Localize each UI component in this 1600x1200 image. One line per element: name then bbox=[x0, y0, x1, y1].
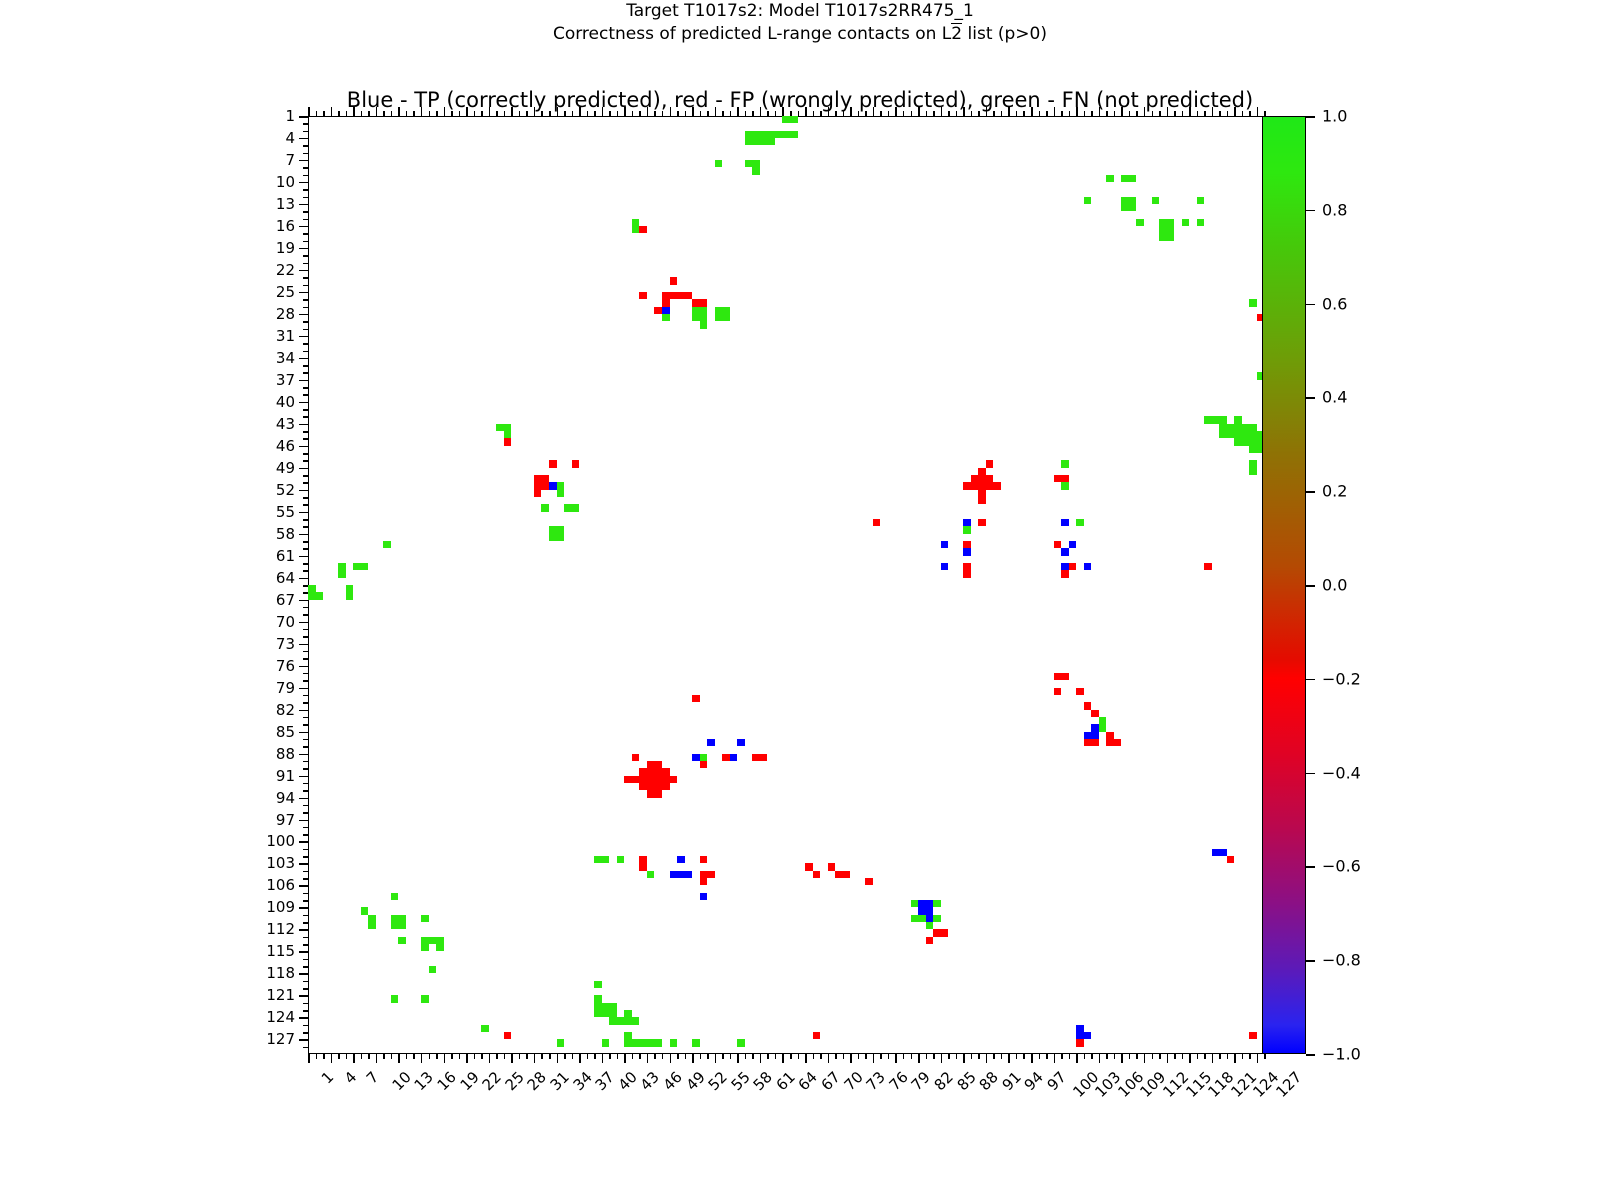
x-axis-tick bbox=[790, 1054, 792, 1059]
x-axis-tick bbox=[1084, 1054, 1086, 1059]
x-axis-tick-top bbox=[775, 111, 777, 116]
x-axis-tick bbox=[654, 1054, 656, 1059]
colorbar-tick-label: −0.2 bbox=[1322, 669, 1361, 688]
contact-cell-fp bbox=[692, 695, 700, 702]
x-axis-tick-top bbox=[572, 111, 574, 116]
x-axis-tick bbox=[948, 1054, 950, 1059]
x-axis-tick-top bbox=[594, 111, 596, 116]
x-axis-tick-top bbox=[587, 111, 589, 116]
y-axis-tick bbox=[303, 153, 308, 155]
contact-cell-fn bbox=[308, 585, 316, 592]
x-axis-tick bbox=[353, 1054, 355, 1063]
contact-cell-fp bbox=[662, 292, 677, 299]
contact-cell-fn bbox=[549, 526, 564, 541]
x-axis-tick-top bbox=[1144, 107, 1146, 116]
contact-cell-fn bbox=[692, 1039, 700, 1046]
contact-cell-fn bbox=[1249, 299, 1257, 306]
contact-cell-fn bbox=[670, 1039, 678, 1046]
x-axis-tick bbox=[903, 1054, 905, 1059]
contact-cell-fn bbox=[624, 1010, 632, 1017]
contact-cell-fn bbox=[700, 754, 708, 761]
contact-cell-fp bbox=[647, 761, 662, 768]
colorbar-tick bbox=[1306, 397, 1315, 399]
y-axis-tick bbox=[303, 790, 308, 792]
x-axis-tick-top bbox=[338, 111, 340, 116]
x-axis-tick bbox=[1264, 1054, 1266, 1059]
contact-cell-fn bbox=[602, 1039, 610, 1046]
x-axis-tick bbox=[466, 1054, 468, 1063]
x-axis-tick-top bbox=[541, 111, 543, 116]
y-axis-label: 37 bbox=[276, 371, 295, 389]
x-axis-tick-top bbox=[331, 107, 333, 116]
contact-cell-tp bbox=[700, 893, 708, 900]
x-axis-tick-top bbox=[609, 111, 611, 116]
y-axis-tick bbox=[303, 277, 308, 279]
colorbar-tick bbox=[1306, 491, 1315, 493]
title-line-2: Correctness of predicted L-range contact… bbox=[0, 23, 1600, 46]
contact-cell-fn bbox=[421, 937, 444, 944]
x-axis-tick bbox=[1212, 1054, 1214, 1063]
contact-cell-fn bbox=[715, 160, 723, 167]
y-axis-tick bbox=[303, 453, 308, 455]
contact-cell-fp bbox=[700, 856, 708, 863]
contact-cell-fn bbox=[557, 1039, 565, 1046]
x-axis-tick bbox=[1167, 1054, 1169, 1063]
contact-cell-fp bbox=[813, 1032, 821, 1039]
y-axis-tick bbox=[303, 299, 308, 301]
contact-cell-tp bbox=[1091, 724, 1099, 731]
x-axis-tick-top bbox=[933, 111, 935, 116]
colorbar-tick-label: 0.8 bbox=[1322, 200, 1347, 219]
contact-cell-fn bbox=[624, 1032, 632, 1039]
y-axis-tick bbox=[303, 937, 308, 939]
x-axis-tick-top bbox=[511, 107, 513, 116]
x-axis-tick bbox=[391, 1054, 393, 1059]
y-axis-tick bbox=[299, 424, 308, 426]
x-axis-tick-top bbox=[549, 111, 551, 116]
colorbar-tick-label: −0.4 bbox=[1322, 763, 1361, 782]
x-axis-tick bbox=[398, 1054, 400, 1063]
x-axis-tick-top bbox=[978, 111, 980, 116]
y-axis-tick bbox=[303, 607, 308, 609]
y-axis-tick bbox=[303, 233, 308, 235]
y-axis-tick bbox=[303, 365, 308, 367]
x-axis-tick bbox=[828, 1054, 830, 1063]
y-axis-tick bbox=[299, 995, 308, 997]
y-axis-label: 127 bbox=[266, 1030, 295, 1048]
contact-cell-fp bbox=[1249, 1032, 1257, 1039]
y-axis-tick bbox=[303, 438, 308, 440]
x-axis-tick bbox=[715, 1054, 717, 1063]
x-axis-tick-top bbox=[1114, 111, 1116, 116]
x-axis-tick-top bbox=[391, 111, 393, 116]
x-axis-tick bbox=[722, 1054, 724, 1059]
x-axis-tick-top bbox=[1061, 111, 1063, 116]
contact-cell-fp bbox=[805, 863, 813, 870]
contact-cell-fp bbox=[828, 863, 836, 870]
contact-cell-fp bbox=[534, 475, 549, 482]
x-axis-tick bbox=[745, 1054, 747, 1059]
y-axis-tick bbox=[299, 314, 308, 316]
y-axis-label: 31 bbox=[276, 327, 295, 345]
y-axis-tick bbox=[303, 746, 308, 748]
contact-cell-fp bbox=[963, 563, 971, 578]
x-axis-tick-top bbox=[835, 111, 837, 116]
y-axis-tick bbox=[303, 849, 308, 851]
x-axis-label: 127 bbox=[1272, 1068, 1305, 1101]
y-axis-tick bbox=[303, 856, 308, 858]
contact-cell-fn bbox=[1099, 717, 1107, 732]
x-axis-tick-top bbox=[647, 107, 649, 116]
y-axis-tick bbox=[299, 204, 308, 206]
colorbar-tick bbox=[1306, 866, 1315, 868]
contact-cell-fp bbox=[963, 482, 1001, 489]
contact-cell-fn bbox=[436, 944, 444, 951]
contact-cell-fp bbox=[873, 519, 881, 526]
x-axis-tick bbox=[677, 1054, 679, 1059]
y-axis-tick bbox=[303, 219, 308, 221]
y-axis-tick bbox=[299, 160, 308, 162]
x-axis-tick bbox=[308, 1054, 310, 1063]
contact-map-plot: 1471013161922252831343740434649525558616… bbox=[308, 116, 1272, 1054]
y-axis-tick bbox=[299, 798, 308, 800]
x-axis-tick bbox=[557, 1054, 559, 1063]
contact-cell-fn bbox=[752, 167, 760, 174]
y-axis-tick bbox=[303, 636, 308, 638]
x-axis-tick bbox=[451, 1054, 453, 1059]
contact-cell-fn bbox=[338, 563, 346, 578]
contact-cell-fn bbox=[632, 1017, 640, 1024]
contact-cell-fn bbox=[1197, 197, 1205, 204]
y-axis-tick bbox=[299, 226, 308, 228]
contact-cell-fp bbox=[1076, 1039, 1084, 1046]
x-axis-tick bbox=[459, 1054, 461, 1059]
y-axis-label: 103 bbox=[266, 854, 295, 872]
x-axis-tick bbox=[1023, 1054, 1025, 1059]
x-axis-tick bbox=[1091, 1054, 1093, 1059]
x-axis-tick bbox=[549, 1054, 551, 1059]
contact-cell-fp bbox=[722, 754, 730, 761]
contact-cell-fn bbox=[504, 431, 512, 438]
x-axis-tick-top bbox=[368, 111, 370, 116]
x-axis-tick bbox=[873, 1054, 875, 1063]
contact-cell-fn bbox=[1159, 219, 1174, 234]
x-axis-tick-top bbox=[670, 107, 672, 116]
x-axis-tick bbox=[865, 1054, 867, 1059]
contact-cell-fn bbox=[368, 915, 376, 930]
contact-cell-fn bbox=[662, 314, 670, 321]
x-axis-tick-top bbox=[963, 107, 965, 116]
x-axis-tick-top bbox=[1023, 111, 1025, 116]
y-axis-tick bbox=[303, 131, 308, 133]
y-axis-tick bbox=[299, 732, 308, 734]
contact-cell-fp bbox=[504, 438, 512, 445]
y-axis-tick bbox=[303, 519, 308, 521]
x-axis-tick-top bbox=[790, 111, 792, 116]
contact-cell-fn bbox=[926, 922, 934, 929]
y-axis-label: 70 bbox=[276, 613, 295, 631]
x-axis-tick bbox=[338, 1054, 340, 1059]
x-axis-tick bbox=[511, 1054, 513, 1063]
x-axis-tick bbox=[918, 1054, 920, 1063]
y-axis-tick bbox=[303, 1010, 308, 1012]
y-axis-tick bbox=[303, 431, 308, 433]
contact-cell-fn bbox=[572, 504, 580, 511]
contact-cell-fp bbox=[632, 754, 640, 761]
x-axis-tick bbox=[534, 1054, 536, 1063]
y-axis-label: 34 bbox=[276, 349, 295, 367]
x-axis-tick bbox=[752, 1054, 754, 1059]
x-axis-tick bbox=[670, 1054, 672, 1063]
x-axis-tick bbox=[1257, 1054, 1259, 1063]
y-axis-tick bbox=[299, 951, 308, 953]
contact-cell-fn bbox=[700, 321, 708, 328]
x-axis-tick-top bbox=[1129, 111, 1131, 116]
y-axis-label: 109 bbox=[266, 898, 295, 916]
y-axis-label: 121 bbox=[266, 986, 295, 1004]
x-axis-tick-top bbox=[1219, 111, 1221, 116]
y-axis-tick bbox=[299, 1039, 308, 1041]
contact-cell-fn bbox=[391, 995, 399, 1002]
y-axis-label: 61 bbox=[276, 547, 295, 565]
y-axis-tick bbox=[303, 651, 308, 653]
x-axis-tick bbox=[647, 1054, 649, 1063]
y-axis-label: 112 bbox=[266, 920, 295, 938]
x-axis-tick bbox=[685, 1054, 687, 1059]
y-axis-tick bbox=[299, 885, 308, 887]
x-axis-tick-top bbox=[1076, 107, 1078, 116]
y-axis-tick bbox=[299, 907, 308, 909]
contact-cell-fn bbox=[1234, 416, 1242, 423]
x-axis-tick-top bbox=[436, 111, 438, 116]
x-axis-label: 4 bbox=[340, 1068, 359, 1087]
y-axis-tick bbox=[299, 402, 308, 404]
y-axis-tick bbox=[303, 812, 308, 814]
contact-cell-fp bbox=[978, 519, 986, 526]
x-axis-tick-top bbox=[926, 111, 928, 116]
contact-cell-fn bbox=[737, 1039, 745, 1046]
y-axis-tick bbox=[303, 145, 308, 147]
y-axis-tick bbox=[303, 409, 308, 411]
x-axis-tick-top bbox=[1249, 111, 1251, 116]
y-axis-tick bbox=[299, 644, 308, 646]
contact-cell-tp bbox=[685, 871, 693, 878]
contact-cell-tp bbox=[1061, 519, 1069, 526]
contact-cell-tp bbox=[1076, 1025, 1084, 1040]
x-axis-tick-top bbox=[993, 111, 995, 116]
x-axis-tick bbox=[564, 1054, 566, 1059]
x-axis-tick bbox=[1106, 1054, 1108, 1059]
contact-cell-fn bbox=[421, 995, 429, 1002]
contact-cell-fp bbox=[639, 863, 647, 870]
contact-cell-tp bbox=[737, 739, 745, 746]
x-axis-tick bbox=[880, 1054, 882, 1059]
x-axis-tick-top bbox=[1031, 107, 1033, 116]
y-axis-tick bbox=[303, 167, 308, 169]
x-axis-tick bbox=[1159, 1054, 1161, 1059]
y-axis-tick bbox=[303, 541, 308, 543]
x-axis-tick bbox=[1144, 1054, 1146, 1063]
y-axis-label: 91 bbox=[276, 767, 295, 785]
contact-cell-fn bbox=[391, 893, 399, 900]
x-axis-tick-top bbox=[564, 111, 566, 116]
x-axis-tick bbox=[1121, 1054, 1123, 1063]
contact-cell-fp bbox=[1204, 563, 1212, 570]
x-axis-tick-top bbox=[383, 111, 385, 116]
x-axis-tick-top bbox=[466, 107, 468, 116]
y-axis-tick bbox=[299, 622, 308, 624]
y-axis-tick bbox=[303, 871, 308, 873]
contact-cell-fn bbox=[557, 482, 565, 497]
x-axis-tick-top bbox=[1257, 107, 1259, 116]
x-axis-tick bbox=[368, 1054, 370, 1059]
y-axis-label: 1 bbox=[285, 107, 295, 125]
contact-cell-fn bbox=[429, 966, 437, 973]
x-axis-tick bbox=[383, 1054, 385, 1059]
y-axis-label: 19 bbox=[276, 239, 295, 257]
colorbar-tick-label: 0.6 bbox=[1322, 294, 1347, 313]
x-axis-tick-top bbox=[1106, 111, 1108, 116]
y-axis-tick bbox=[303, 482, 308, 484]
contact-cell-fp bbox=[971, 475, 994, 482]
x-axis-tick-top bbox=[376, 107, 378, 116]
y-axis-label: 25 bbox=[276, 283, 295, 301]
x-axis-tick bbox=[346, 1054, 348, 1059]
y-axis-label: 82 bbox=[276, 701, 295, 719]
y-axis-label: 43 bbox=[276, 415, 295, 433]
x-axis-tick-top bbox=[798, 111, 800, 116]
contact-cell-fn bbox=[1076, 519, 1084, 526]
x-axis-tick-top bbox=[602, 107, 604, 116]
y-axis-label: 13 bbox=[276, 195, 295, 213]
y-axis-tick bbox=[303, 783, 308, 785]
y-axis-label: 7 bbox=[285, 151, 295, 169]
x-axis-tick bbox=[1152, 1054, 1154, 1059]
y-axis-label: 16 bbox=[276, 217, 295, 235]
x-axis-tick-top bbox=[677, 111, 679, 116]
y-axis-tick bbox=[299, 973, 308, 975]
y-axis-tick bbox=[299, 556, 308, 558]
contact-cell-fp bbox=[1054, 541, 1062, 548]
x-axis-tick bbox=[1099, 1054, 1101, 1063]
contact-cell-fp bbox=[1076, 688, 1084, 695]
x-axis-tick-top bbox=[805, 107, 807, 116]
x-axis-tick-top bbox=[474, 111, 476, 116]
contact-cell-tp bbox=[730, 754, 738, 761]
x-axis-tick bbox=[662, 1054, 664, 1059]
contact-cell-tp bbox=[707, 739, 715, 746]
contact-cell-fp bbox=[504, 1032, 512, 1039]
x-axis-tick bbox=[609, 1054, 611, 1059]
y-axis-tick bbox=[303, 592, 308, 594]
x-axis-tick-top bbox=[767, 111, 769, 116]
contact-cell-fn bbox=[647, 871, 655, 878]
y-axis-tick bbox=[303, 966, 308, 968]
x-axis-tick bbox=[835, 1054, 837, 1059]
x-axis-tick-top bbox=[700, 111, 702, 116]
x-axis-tick bbox=[798, 1054, 800, 1059]
contact-cell-fp bbox=[670, 277, 678, 284]
y-axis-label: 55 bbox=[276, 503, 295, 521]
y-axis-tick bbox=[299, 116, 308, 118]
contact-cell-fp bbox=[534, 490, 542, 497]
y-axis-tick bbox=[299, 534, 308, 536]
contact-cell-fp bbox=[639, 226, 647, 233]
x-axis-tick-top bbox=[986, 107, 988, 116]
x-axis-tick-top bbox=[1039, 111, 1041, 116]
colorbar-tick bbox=[1306, 116, 1315, 118]
y-axis-tick bbox=[303, 351, 308, 353]
x-axis-tick bbox=[1249, 1054, 1251, 1059]
x-axis-tick-top bbox=[353, 107, 355, 116]
x-axis-tick-top bbox=[557, 107, 559, 116]
contact-cell-fp bbox=[835, 871, 850, 878]
contact-cell-fn bbox=[346, 585, 354, 600]
x-axis-tick bbox=[1234, 1054, 1236, 1063]
x-axis-tick bbox=[1046, 1054, 1048, 1059]
x-axis-tick-top bbox=[1084, 111, 1086, 116]
y-axis-tick bbox=[303, 255, 308, 257]
x-axis-tick-top bbox=[526, 111, 528, 116]
y-axis-label: 94 bbox=[276, 789, 295, 807]
y-axis-tick bbox=[303, 123, 308, 125]
x-axis-tick-top bbox=[413, 111, 415, 116]
y-axis-tick bbox=[303, 394, 308, 396]
contact-cell-fp bbox=[700, 871, 715, 878]
x-axis-tick-top bbox=[639, 111, 641, 116]
x-axis-tick-top bbox=[398, 107, 400, 116]
x-axis-tick-top bbox=[1046, 111, 1048, 116]
contact-cell-fn bbox=[1219, 424, 1249, 439]
y-axis-tick bbox=[303, 834, 308, 836]
x-axis-tick-top bbox=[692, 107, 694, 116]
y-axis-label: 46 bbox=[276, 437, 295, 455]
x-axis-tick bbox=[933, 1054, 935, 1059]
contact-cell-fp bbox=[926, 937, 934, 944]
y-axis-label: 124 bbox=[266, 1008, 295, 1026]
contact-cell-fn bbox=[594, 1003, 617, 1018]
x-axis-tick-top bbox=[519, 111, 521, 116]
contact-cell-fp bbox=[865, 878, 873, 885]
contact-cell-fn bbox=[1121, 197, 1136, 212]
y-axis-tick bbox=[299, 358, 308, 360]
contact-cell-fn bbox=[775, 131, 783, 138]
y-axis-tick bbox=[303, 702, 308, 704]
x-axis-tick-top bbox=[715, 107, 717, 116]
x-axis-tick bbox=[978, 1054, 980, 1059]
contact-cell-fp bbox=[534, 482, 549, 489]
colorbar-tick-label: −1.0 bbox=[1322, 1045, 1361, 1064]
contact-cell-tp bbox=[1084, 1032, 1092, 1039]
x-axis-tick bbox=[1114, 1054, 1116, 1059]
contact-cell-tp bbox=[926, 915, 934, 922]
x-axis-tick bbox=[692, 1054, 694, 1063]
x-axis-tick-top bbox=[1069, 111, 1071, 116]
x-axis-tick bbox=[639, 1054, 641, 1059]
x-axis-tick bbox=[730, 1054, 732, 1059]
contact-cell-fn bbox=[594, 856, 609, 863]
y-axis-tick bbox=[303, 526, 308, 528]
contact-cell-fn bbox=[1167, 233, 1175, 240]
contact-cell-fp bbox=[1054, 688, 1062, 695]
y-axis-tick bbox=[303, 1003, 308, 1005]
contact-cell-fp bbox=[752, 754, 767, 761]
y-axis-tick bbox=[303, 900, 308, 902]
contact-cell-tp bbox=[662, 307, 670, 314]
x-axis-tick-top bbox=[444, 107, 446, 116]
x-axis-tick bbox=[361, 1054, 363, 1059]
contact-cell-fn bbox=[632, 226, 640, 233]
